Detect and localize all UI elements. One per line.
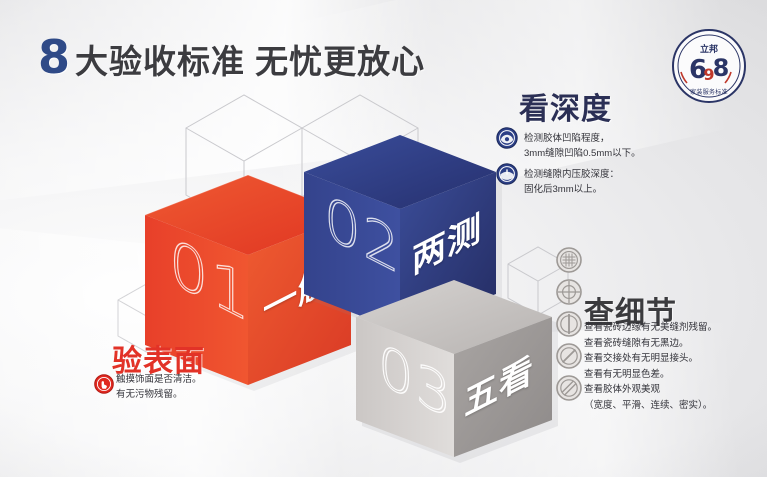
eye-depth-icon <box>496 127 518 149</box>
crosshair-icon <box>556 279 582 310</box>
headline-number: 8 <box>38 34 69 80</box>
slash-circle-icon <box>556 343 582 374</box>
surface-body-text: 触摸饰面是否清洁。 有无污物残留。 <box>116 372 202 402</box>
nippon-paint-seal-logo: 立邦 6 8 9 家装服务标准 <box>669 26 749 106</box>
headline-text: 大验收标准 无忧更放心 <box>75 43 425 81</box>
split-circle-icon <box>556 311 582 342</box>
detail-body-text: 查看瓷砖边缘有无美缝剂残留。 查看瓷砖缝隙有无黑边。 查看交接处有无明显接头。 … <box>584 320 717 413</box>
svg-text:立邦: 立邦 <box>700 43 718 54</box>
double-slash-icon <box>556 375 582 406</box>
infographic-canvas: 01 一触 02 两测 <box>0 0 767 477</box>
gauge-depth-icon <box>496 163 518 185</box>
svg-text:8: 8 <box>713 54 730 82</box>
grid-icon <box>556 247 582 278</box>
svg-text:9: 9 <box>703 65 714 84</box>
depth-item-1-text: 检测胶体凹陷程度， 3mm缝隙凹陷0.5mm以下。 <box>524 132 641 161</box>
svg-text:家装服务标准: 家装服务标准 <box>690 88 728 96</box>
touch-hand-icon <box>94 374 114 394</box>
depth-item-2-text: 检测缝隙内压胶深度： 固化后3mm以上。 <box>524 168 619 197</box>
page-title: 8 大验收标准 无忧更放心 <box>38 34 425 81</box>
section-title-depth: 看深度 <box>519 84 612 128</box>
